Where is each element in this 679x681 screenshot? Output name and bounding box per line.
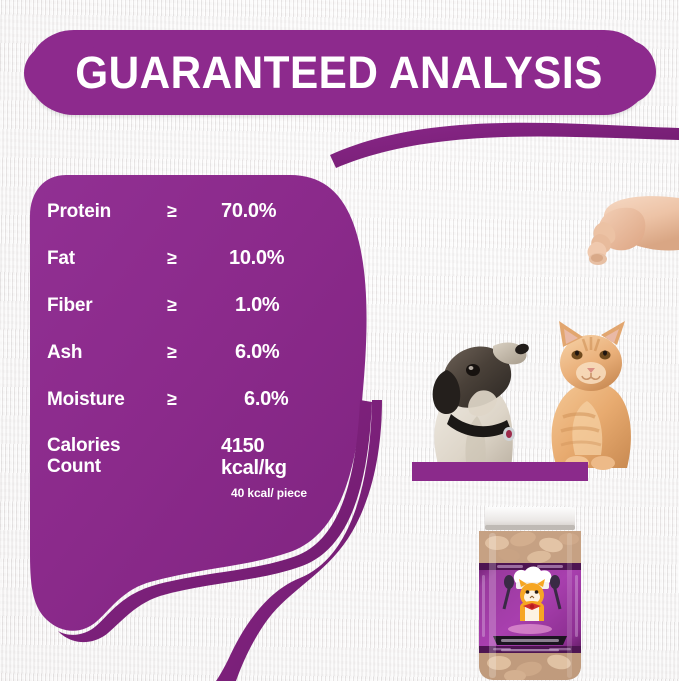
table-row: Fiber ≥ 1.0%: [47, 294, 337, 341]
value-fiber: 1.0%: [211, 294, 337, 316]
nutrient-label-ash: Ash: [47, 342, 167, 363]
calories-value: 4150 kcal/kg 40 kcal/ piece: [211, 435, 337, 500]
product-jar-image: [471, 505, 589, 681]
calories-note: 40 kcal/ piece: [221, 487, 337, 500]
operator-moisture: ≥: [167, 389, 211, 410]
table-row: Ash ≥ 6.0%: [47, 341, 337, 388]
operator-fat: ≥: [167, 248, 211, 269]
table-row: Protein ≥ 70.0%: [47, 200, 337, 247]
value-moisture: 6.0%: [211, 388, 337, 410]
operator-ash: ≥: [167, 342, 211, 363]
operator-protein: ≥: [167, 201, 211, 222]
operator-fiber: ≥: [167, 295, 211, 316]
purple-shelf-bar: [412, 462, 588, 481]
value-ash: 6.0%: [211, 341, 337, 363]
hand-holding-treat-image: [573, 196, 679, 274]
table-row: Moisture ≥ 6.0%: [47, 388, 337, 435]
value-protein: 70.0%: [211, 200, 337, 222]
calories-value-line1: 4150: [221, 435, 264, 457]
table-row: Fat ≥ 10.0%: [47, 247, 337, 294]
table-row-calories: Calories Count 4150 kcal/kg 40 kcal/ pie…: [47, 435, 337, 500]
dog-image: [423, 318, 545, 470]
nutrient-label-fat: Fat: [47, 248, 167, 269]
calories-value-line2: kcal/kg: [221, 457, 287, 479]
cat-image: [537, 313, 647, 470]
calories-label: Calories Count: [47, 435, 167, 478]
page-title: GUARANTEED ANALYSIS: [47, 47, 632, 99]
calories-label-line1: Calories: [47, 435, 120, 456]
guaranteed-analysis-infographic: GUARANTEED ANALYSIS Protein ≥ 70.0: [0, 0, 679, 681]
nutrient-label-fiber: Fiber: [47, 295, 167, 316]
decorative-arc-top: [330, 123, 679, 168]
nutrient-label-moisture: Moisture: [47, 389, 167, 410]
nutrient-label-protein: Protein: [47, 201, 167, 222]
value-fat: 10.0%: [211, 247, 337, 269]
guaranteed-analysis-table: Protein ≥ 70.0% Fat ≥ 10.0% Fiber ≥ 1.0%…: [47, 200, 337, 500]
calories-label-line2: Count: [47, 456, 101, 477]
